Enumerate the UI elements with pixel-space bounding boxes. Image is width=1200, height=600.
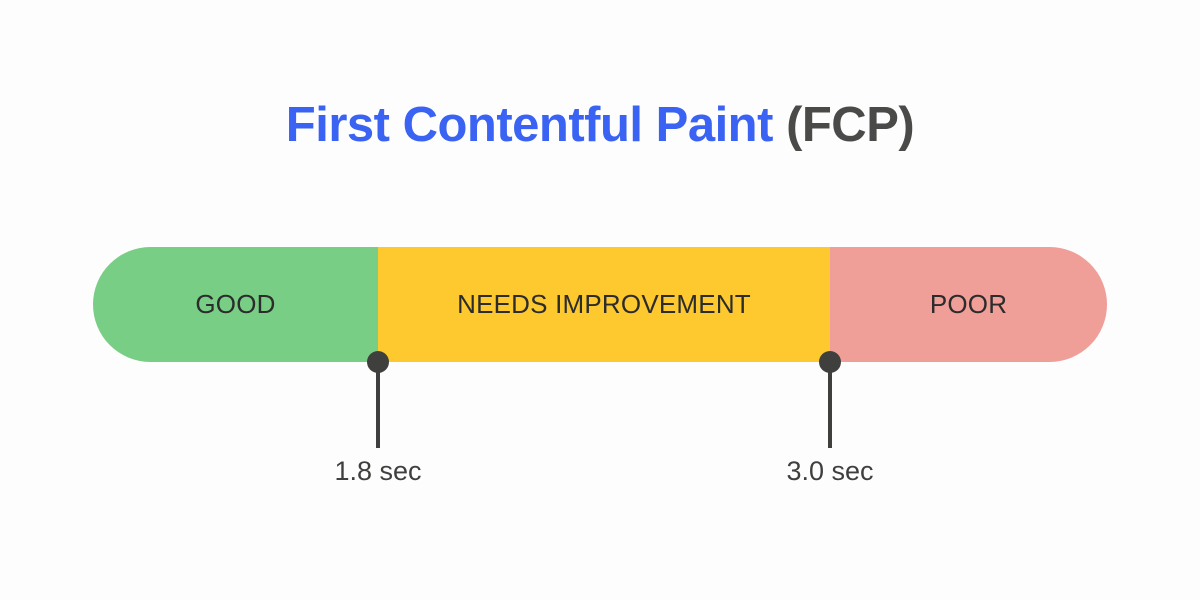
threshold-leader-line-2 — [828, 362, 832, 448]
band-needs-improvement-label: NEEDS IMPROVEMENT — [457, 289, 751, 320]
band-good: GOOD — [93, 247, 378, 362]
band-poor-label: POOR — [930, 289, 1007, 320]
threshold-bar: GOOD NEEDS IMPROVEMENT POOR — [93, 247, 1107, 362]
page-title-metric-name: First Contentful Paint — [286, 98, 773, 152]
page-title: First Contentful Paint (FCP) — [0, 92, 1200, 158]
threshold-value-label-1: 1.8 sec — [268, 456, 488, 487]
threshold-value-label-2: 3.0 sec — [720, 456, 940, 487]
page-title-metric-abbreviation: (FCP) — [786, 98, 914, 152]
threshold-dot-icon-2 — [819, 351, 841, 373]
threshold-leader-line-1 — [376, 362, 380, 448]
chart-canvas: First Contentful Paint (FCP) GOOD NEEDS … — [0, 0, 1200, 600]
band-good-label: GOOD — [195, 289, 275, 320]
band-poor: POOR — [830, 247, 1107, 362]
band-needs-improvement: NEEDS IMPROVEMENT — [378, 247, 830, 362]
threshold-dot-icon-1 — [367, 351, 389, 373]
